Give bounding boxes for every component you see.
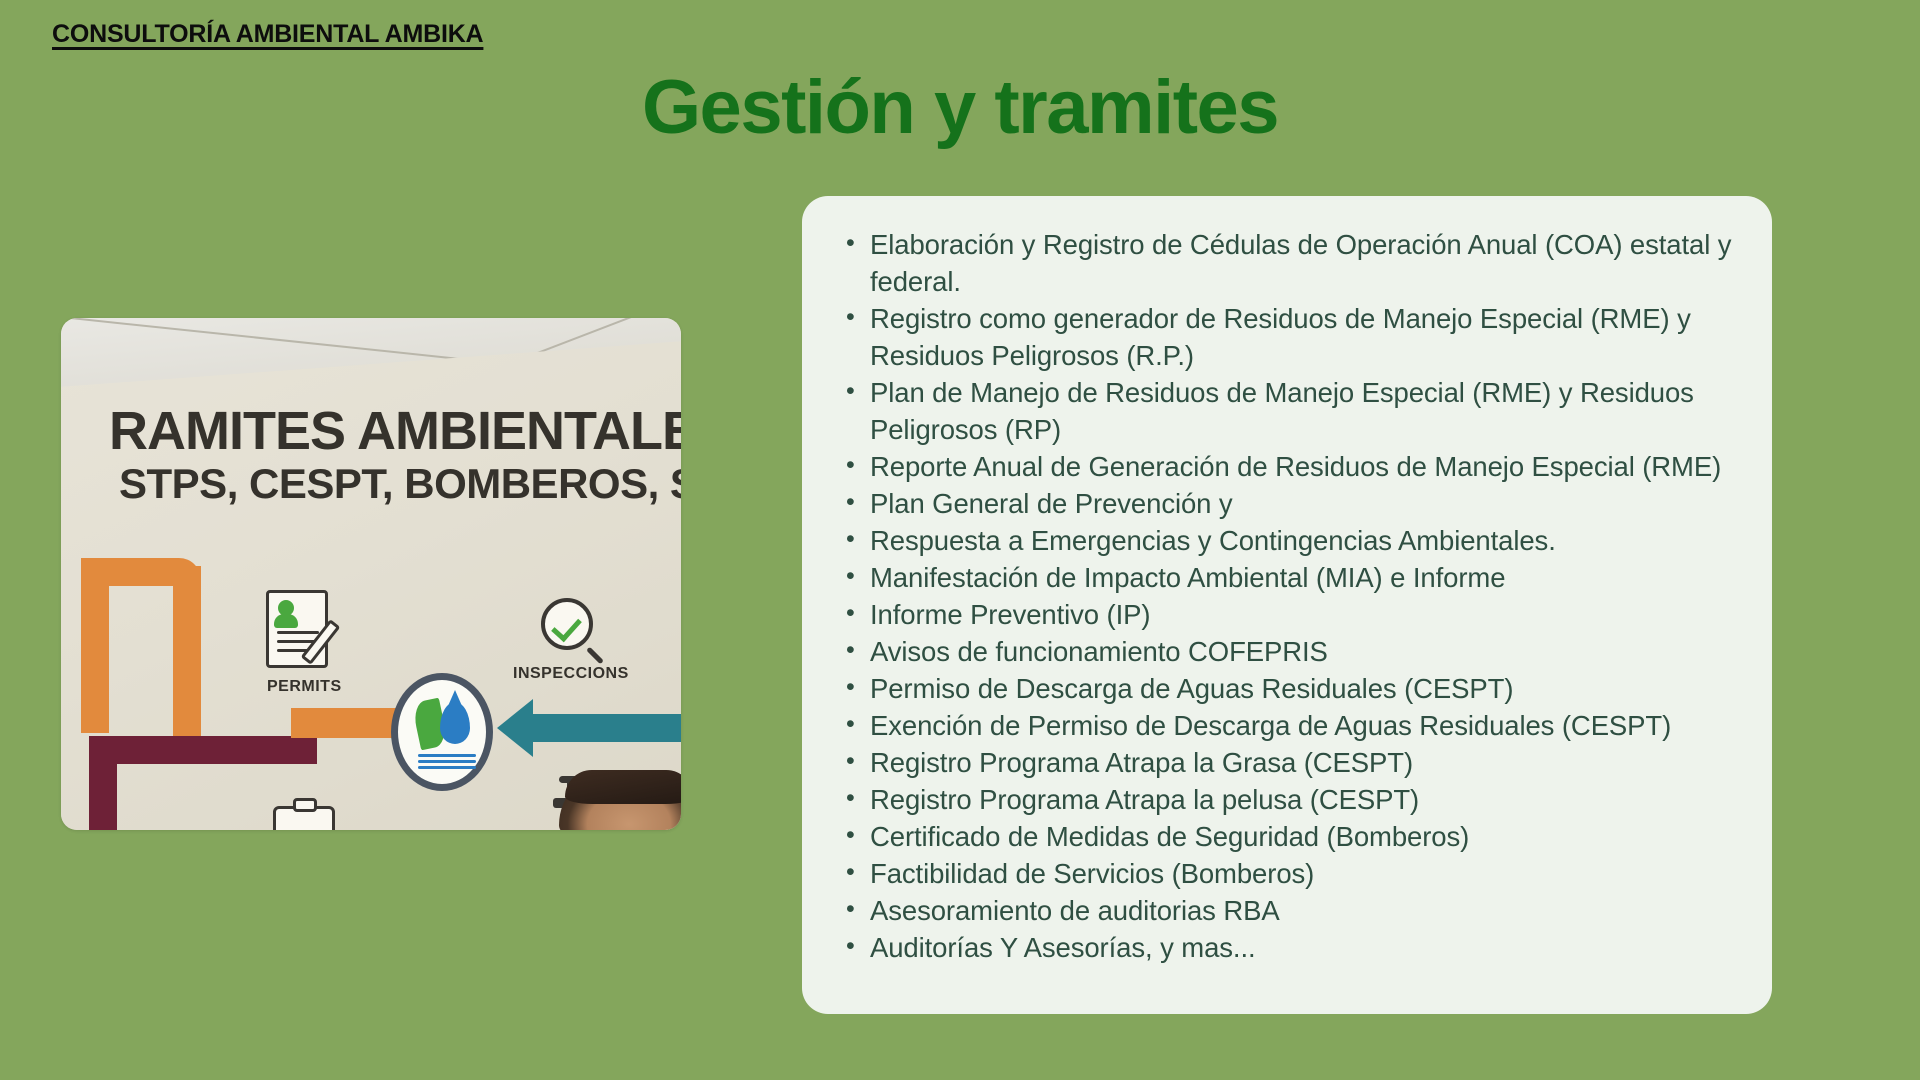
service-item: Registro como generador de Residuos de M… [836, 300, 1738, 374]
service-item: Registro Programa Atrapa la Grasa (CESPT… [836, 744, 1738, 781]
orange-pipe-vertical-2 [173, 566, 201, 736]
person-head-photo [559, 770, 681, 830]
services-card: Elaboración y Registro de Cédulas de Ope… [802, 196, 1772, 1014]
orange-pipe-vertical [81, 558, 109, 733]
service-item: Registro Programa Atrapa la pelusa (CESP… [836, 781, 1738, 818]
poster-label-permits: PERMITS [267, 678, 342, 696]
brand-header: CONSULTORÍA AMBIENTAL AMBIKA [52, 20, 483, 49]
poster-headline: RAMITES AMBIENTALES TIJ [109, 400, 681, 462]
check-glyph-icon [551, 611, 582, 642]
service-item: Certificado de Medidas de Seguridad (Bom… [836, 818, 1738, 855]
poster-subhead: STPS, CESPT, BOMBEROS, SEMA [119, 460, 681, 508]
service-item: Permiso de Descarga de Aguas Residuales … [836, 670, 1738, 707]
services-list: Elaboración y Registro de Cédulas de Ope… [836, 226, 1738, 966]
water-drop-icon [440, 702, 470, 744]
service-item: Auditorías Y Asesorías, y mas... [836, 929, 1738, 966]
teal-arrow-left-icon [531, 714, 681, 742]
document-icon [266, 590, 328, 668]
service-item: Exención de Permiso de Descarga de Aguas… [836, 707, 1738, 744]
service-item: Factibilidad de Servicios (Bomberos) [836, 855, 1738, 892]
service-item: Respuesta a Emergencias y Contingencias … [836, 522, 1738, 559]
service-item: Asesoramiento de auditorias RBA [836, 892, 1738, 929]
service-item: Avisos de funcionamiento COFEPRIS [836, 633, 1738, 670]
wave-line [418, 760, 476, 763]
clipboard-icon [273, 806, 335, 830]
poster-label-inspeccions: INSPECCIONS [513, 665, 629, 683]
environment-badge-logo [391, 673, 493, 791]
maroon-pipe-horizontal [89, 736, 317, 764]
clipboard-clip [293, 798, 317, 812]
service-item: Informe Preventivo (IP) [836, 596, 1738, 633]
doc-line [277, 631, 319, 634]
magnifier-check-icon [541, 598, 593, 650]
service-item: Plan General de Prevención y [836, 485, 1738, 522]
page-title: Gestión y tramites [0, 70, 1920, 146]
service-item: Plan de Manejo de Residuos de Manejo Esp… [836, 374, 1738, 448]
service-item: Elaboración y Registro de Cédulas de Ope… [836, 226, 1738, 300]
badge-waves-icon [418, 754, 476, 770]
wave-line [418, 754, 476, 757]
poster-photo: RAMITES AMBIENTALES TIJ STPS, CESPT, BOM… [61, 318, 681, 830]
person-glyph-icon [278, 600, 294, 616]
photo-inner: RAMITES AMBIENTALES TIJ STPS, CESPT, BOM… [61, 318, 681, 830]
service-item: Manifestación de Impacto Ambiental (MIA)… [836, 559, 1738, 596]
ceiling-grid-line [61, 318, 460, 360]
wave-line [418, 766, 476, 769]
service-item: Reporte Anual de Generación de Residuos … [836, 448, 1738, 485]
